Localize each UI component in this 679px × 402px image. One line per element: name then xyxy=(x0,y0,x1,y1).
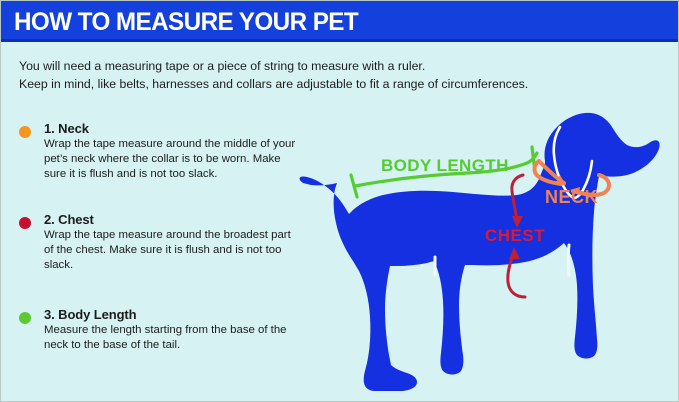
intro-text: You will need a measuring tape or a piec… xyxy=(19,58,659,93)
page-title: HOW TO MEASURE YOUR PET xyxy=(14,7,358,37)
neck-label: NECK xyxy=(545,187,598,207)
step-chest-title: 2. Chest xyxy=(44,212,299,227)
bullet-chest-icon xyxy=(19,217,31,229)
infographic-page: HOW TO MEASURE YOUR PET You will need a … xyxy=(0,0,679,402)
dog-measurement-diagram: BODY LENGTH NECK CHEST xyxy=(277,97,679,402)
step-chest-body: Wrap the tape measure around the broades… xyxy=(44,228,299,274)
step-neck-title: 1. Neck xyxy=(44,121,299,136)
front-leg-divider-icon xyxy=(568,245,569,275)
bullet-neck-icon xyxy=(19,126,31,138)
step-neck-body: Wrap the tape measure around the middle … xyxy=(44,137,299,183)
chest-label: CHEST xyxy=(485,226,545,245)
bullet-body-length-icon xyxy=(19,312,31,324)
intro-line-2: Keep in mind, like belts, harnesses and … xyxy=(19,76,659,94)
step-chest: 2. Chest Wrap the tape measure around th… xyxy=(19,212,299,274)
header-bar: HOW TO MEASURE YOUR PET xyxy=(1,1,679,42)
step-body-length-body: Measure the length starting from the bas… xyxy=(44,323,299,353)
intro-line-1: You will need a measuring tape or a piec… xyxy=(19,58,659,76)
step-body-length-title: 3. Body Length xyxy=(44,307,299,322)
body-length-label: BODY LENGTH xyxy=(381,156,509,175)
step-neck: 1. Neck Wrap the tape measure around the… xyxy=(19,121,299,183)
step-body-length: 3. Body Length Measure the length starti… xyxy=(19,307,299,353)
dog-silhouette-icon xyxy=(300,113,660,391)
